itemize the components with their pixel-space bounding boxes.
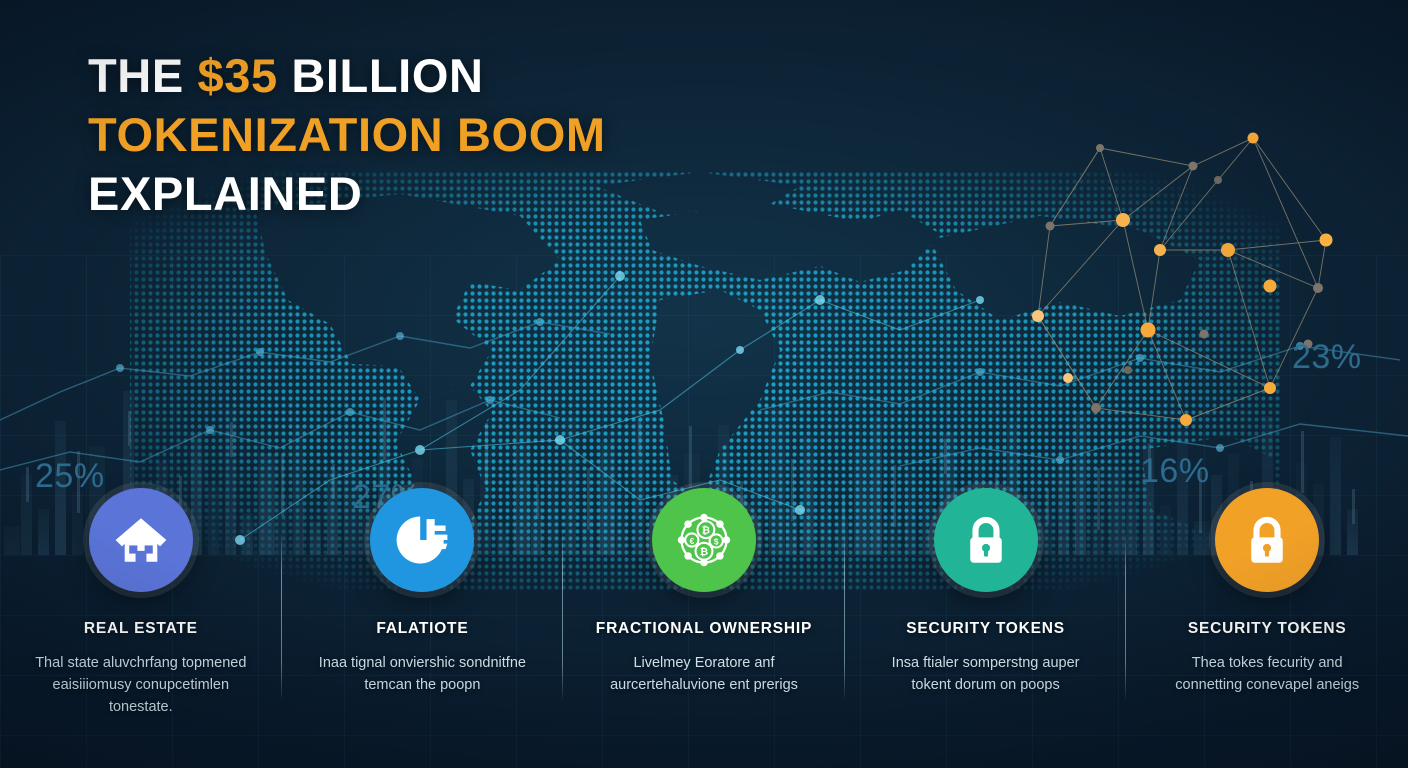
pie-chart-icon [393,511,451,569]
card-falatiote[interactable]: FALATIOTE Inaa tignal onviershic sondnit… [282,486,564,736]
title-line-2: TOKENIZATION BOOM [88,105,808,164]
card-fractional-ownership[interactable]: ₿ ₿ $ € FRACTIONAL OWNERSHIP Livelmey Eo… [563,486,845,736]
infographic-canvas: THE $35 BILLION TOKENIZATION BOOM EXPLAI… [0,0,1408,768]
title-line1-pre: THE [88,49,197,102]
padlock-icon-circle-orange[interactable] [1215,488,1319,592]
card-title: REAL ESTATE [84,620,198,638]
padlock-icon [958,512,1014,568]
percent-label-23: 23% [1292,338,1362,377]
card-title: SECURITY TOKENS [906,620,1065,638]
card-body: Thea tokes fecurity and connetting conev… [1160,652,1375,696]
network-graph [1008,120,1398,490]
house-icon [112,511,170,569]
card-security-tokens-orange[interactable]: SECURITY TOKENS Thea tokes fecurity and … [1126,486,1408,736]
svg-text:₿: ₿ [700,546,708,558]
token-network-icon-circle[interactable]: ₿ ₿ $ € [652,488,756,592]
svg-text:$: $ [714,537,719,547]
title-amount: $35 [197,49,277,102]
real-estate-icon-circle[interactable] [89,488,193,592]
card-body: Thal state aluvchrfang topmened eaisiiio… [33,652,248,718]
card-title: FRACTIONAL OWNERSHIP [596,620,812,638]
pie-chart-icon-circle[interactable] [370,488,474,592]
token-network-icon: ₿ ₿ $ € [674,510,734,570]
padlock-icon [1239,512,1295,568]
padlock-icon-circle-teal[interactable] [934,488,1038,592]
card-real-estate[interactable]: REAL ESTATE Thal state aluvchrfang topme… [0,486,282,736]
card-title: SECURITY TOKENS [1188,620,1347,638]
svg-text:€: € [689,536,694,546]
card-title: FALATIOTE [376,620,468,638]
card-body: Livelmey Eoratore anf aurcertehaluvione … [596,652,811,696]
page-title: THE $35 BILLION TOKENIZATION BOOM EXPLAI… [88,46,808,224]
card-body: Insa ftialer somperstng auper tokent dor… [878,652,1093,696]
svg-text:₿: ₿ [702,524,710,536]
title-line-3: EXPLAINED [88,164,808,223]
card-security-tokens-teal[interactable]: SECURITY TOKENS Insa ftialer somperstng … [845,486,1127,736]
category-card-row: REAL ESTATE Thal state aluvchrfang topme… [0,486,1408,736]
title-line-1: THE $35 BILLION [88,46,808,105]
card-body: Inaa tignal onviershic sondnitfne temcan… [315,652,530,696]
title-line1-post: BILLION [278,49,484,102]
